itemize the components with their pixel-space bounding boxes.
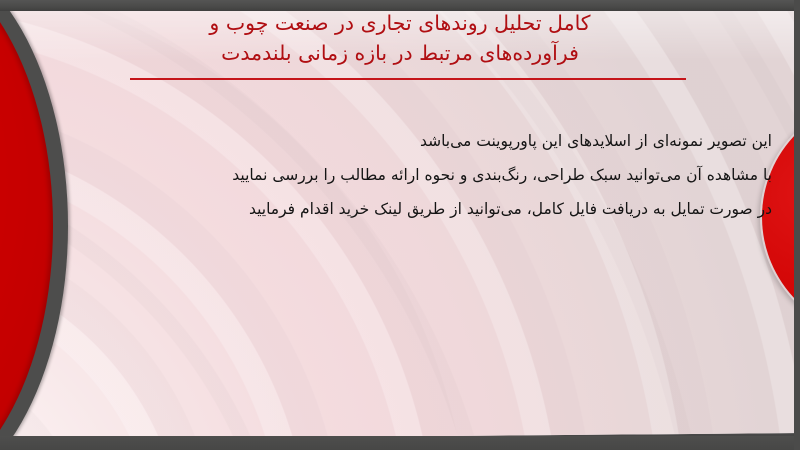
presentation-slide: کامل تحلیل روندهای تجاری در صنعت چوب و ف… — [0, 0, 800, 450]
slide-body-text: این تصویر نمونه‌ای از اسلایدهای این پاور… — [100, 124, 780, 226]
body-line-1: این تصویر نمونه‌ای از اسلایدهای این پاور… — [100, 124, 780, 158]
slide-title: کامل تحلیل روندهای تجاری در صنعت چوب و ف… — [110, 8, 690, 68]
title-underline-rule — [130, 78, 686, 80]
slide-title-line-2: فرآورده‌های مرتبط در بازه زمانی بلندمدت — [110, 38, 690, 68]
slide-frame-right — [794, 0, 800, 450]
body-line-3: در صورت تمایل به دریافت فایل کامل، می‌تو… — [100, 192, 780, 226]
slide-frame-top — [0, 0, 800, 11]
slide-title-line-1: کامل تحلیل روندهای تجاری در صنعت چوب و — [110, 8, 690, 38]
slide-frame-bottom — [0, 436, 800, 450]
body-line-2: با مشاهده آن می‌توانید سبک طراحی، رنگ‌بن… — [100, 158, 780, 192]
